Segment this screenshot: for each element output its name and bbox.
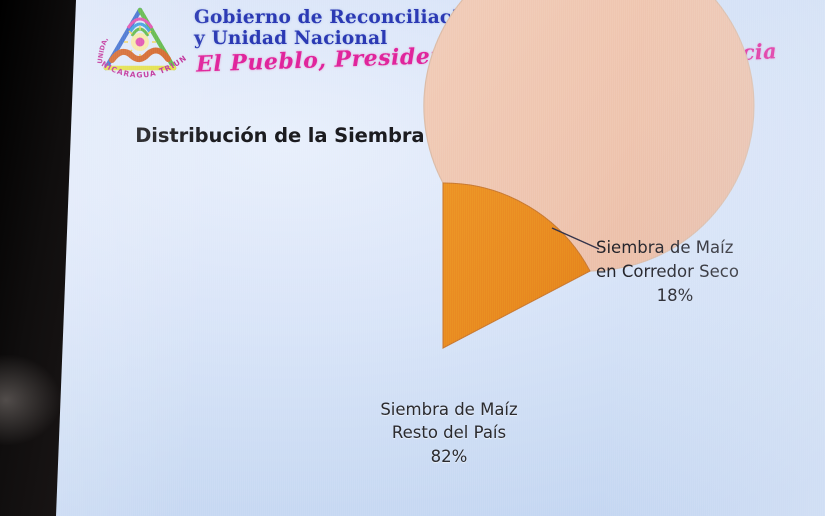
pie-label-corredor-value: 18% — [596, 284, 796, 308]
screenshot-stage: UNIDA, NICARAGUA TRIUNFA! Gobierno de Re… — [0, 0, 825, 516]
pie-label-corredor-line1: Siembra de Maíz — [596, 236, 796, 260]
pie-label-resto-line2: Resto del País — [324, 421, 574, 444]
pie-label-corredor-seco: Siembra de Maíz en Corredor Seco 18% — [596, 236, 796, 308]
pie-chart: Siembra de Maíz Resto del País 82% Siemb… — [56, 0, 825, 516]
pie-label-resto-del-pais: Siembra de Maíz Resto del País 82% — [324, 398, 574, 468]
pie-label-corredor-line2: en Corredor Seco — [596, 260, 796, 284]
pie-label-resto-value: 82% — [324, 445, 574, 468]
presentation-slide: UNIDA, NICARAGUA TRIUNFA! Gobierno de Re… — [56, 0, 825, 516]
pie-label-resto-line1: Siembra de Maíz — [324, 398, 574, 421]
